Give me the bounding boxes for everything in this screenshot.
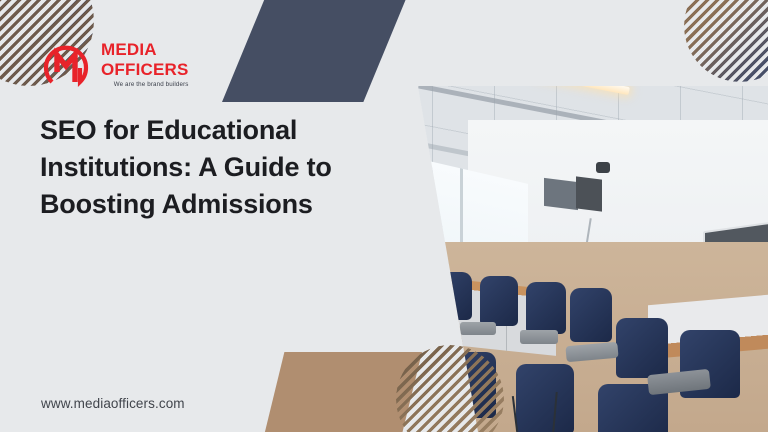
website-url[interactable]: www.mediaofficers.com [41,396,185,411]
logo[interactable]: MEDIA OFFICERS We are the brand builders [40,38,189,90]
logo-line-media: MEDIA [101,41,189,58]
logo-line-officers: OFFICERS [101,61,189,78]
banner: MEDIA OFFICERS We are the brand builders… [0,0,768,432]
navy-parallelogram-shape [222,0,408,102]
classroom-photo [348,0,768,432]
page-title: SEO for Educational Institutions: A Guid… [40,112,340,223]
media-officers-circle-m-icon [40,38,92,90]
logo-tagline: We are the brand builders [101,82,189,88]
